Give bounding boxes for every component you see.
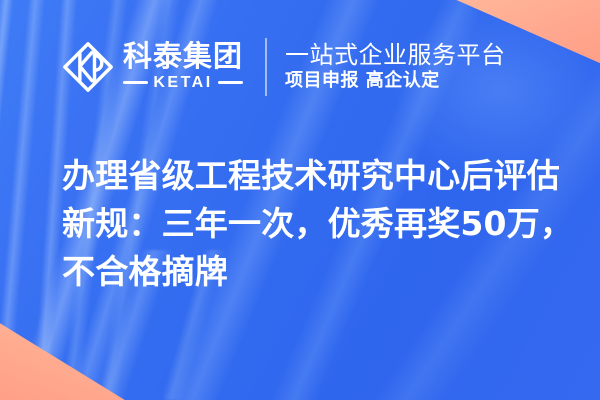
page-title-line-1: 办理省级工程技术研究中心后评估 bbox=[62, 152, 562, 200]
slogan-block: 一站式企业服务平台 项目申报 高企认定 bbox=[285, 42, 506, 92]
promo-banner: 科泰集团 KETAI 一站式企业服务平台 项目申报 高企认定 办理省级工程技术研… bbox=[0, 0, 600, 400]
header-divider bbox=[265, 38, 267, 96]
page-title: 办理省级工程技术研究中心后评估 新规：三年一次，优秀再奖50万， 不合格摘牌 bbox=[62, 152, 562, 296]
banner-header: 科泰集团 KETAI 一站式企业服务平台 项目申报 高企认定 bbox=[62, 38, 570, 96]
slogan-secondary: 项目申报 高企认定 bbox=[285, 71, 506, 92]
brand-name-en: KETAI bbox=[153, 74, 212, 92]
brand-name-en-row: KETAI bbox=[123, 74, 243, 92]
page-title-line-2: 新规：三年一次，优秀再奖50万， bbox=[62, 200, 562, 248]
slogan-primary: 一站式企业服务平台 bbox=[285, 42, 506, 69]
brand-name-cn: 科泰集团 bbox=[123, 42, 243, 72]
brand-logo-wordmark: 科泰集团 KETAI bbox=[123, 42, 243, 92]
brand-logo[interactable]: 科泰集团 KETAI bbox=[62, 41, 243, 93]
ketai-diamond-kp-logo-icon bbox=[62, 41, 114, 93]
wordmark-rule-left bbox=[123, 81, 148, 84]
wordmark-rule-right bbox=[218, 81, 243, 84]
page-title-line-3: 不合格摘牌 bbox=[62, 248, 562, 296]
